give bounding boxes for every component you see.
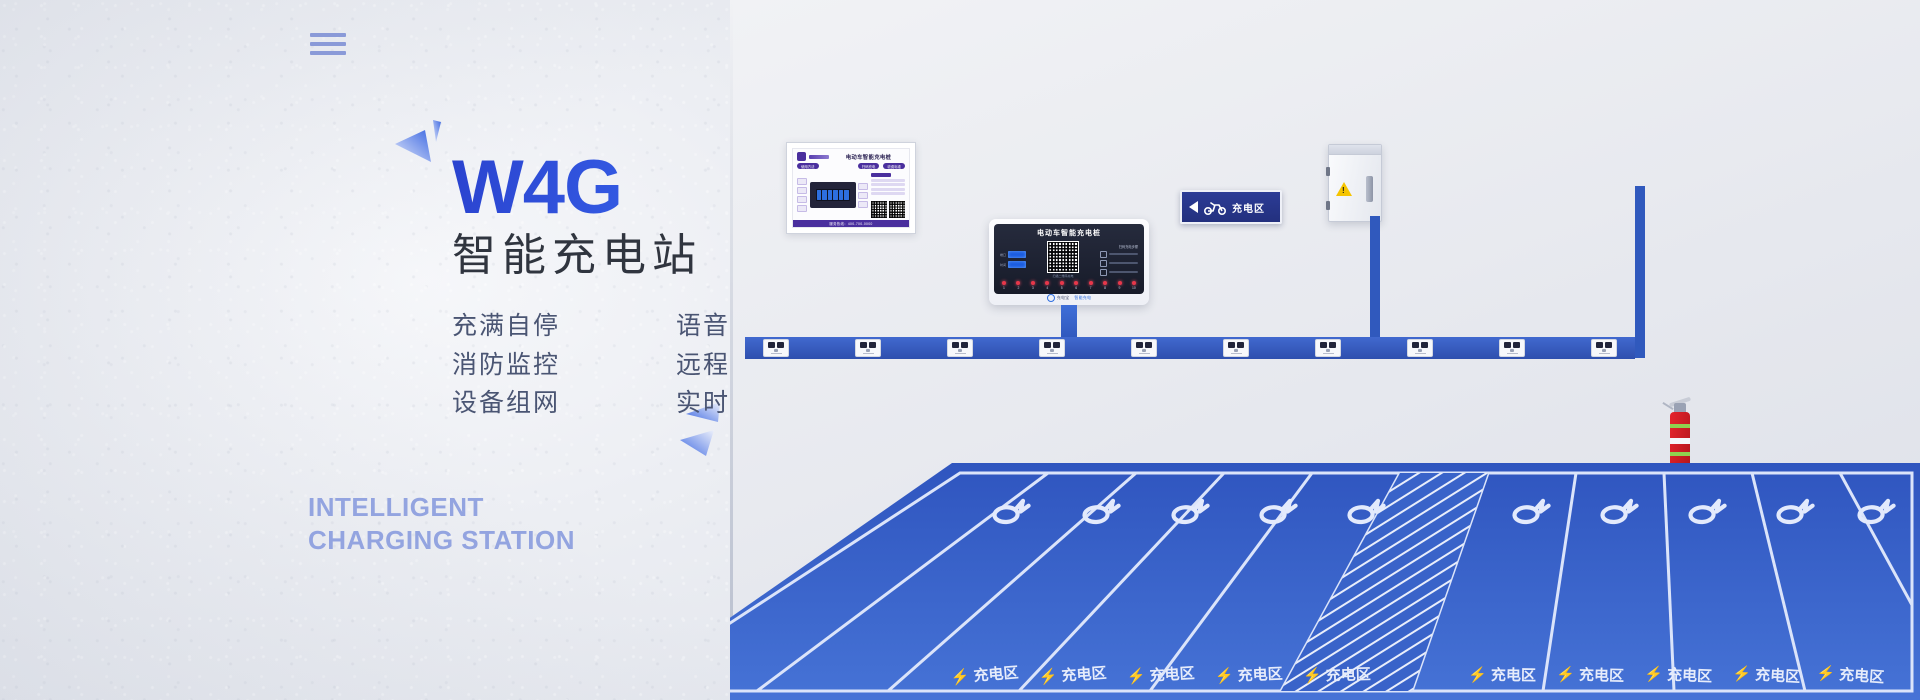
pile-qr-code[interactable] <box>1047 241 1079 273</box>
pile-port-number: 10 <box>1132 286 1136 290</box>
poster-footer: 服务热线：400-700-0000 <box>793 220 909 227</box>
sign-label: 充电区 <box>1232 200 1265 215</box>
pile-port-number: 1 <box>1003 286 1005 290</box>
power-socket-icon[interactable] <box>1131 339 1157 357</box>
poster-title: 电动车智能充电桩 <box>832 153 905 161</box>
pile-conduit <box>1370 216 1380 340</box>
cabinet-conduit <box>1635 186 1645 358</box>
feature-item: 充满自停 <box>452 309 648 344</box>
power-socket-icon[interactable] <box>1223 339 1249 357</box>
pile-port-number: 8 <box>1104 286 1106 290</box>
scooter-icon <box>1203 200 1227 215</box>
pile-led-display: 端口 时间 <box>1000 251 1026 268</box>
poster-tag-usage: 使用方法 <box>797 163 819 169</box>
feature-item: 设备组网 <box>452 386 648 421</box>
poster-logo-icon <box>797 152 806 161</box>
cabinet-handle[interactable] <box>1366 176 1373 202</box>
feature-item: 消防监控 <box>452 348 648 383</box>
pile-qr-caption: 扫描二维码充电 <box>1031 274 1095 278</box>
pile-led-label-port: 端口 <box>1000 253 1006 257</box>
pile-port-number: 5 <box>1061 286 1063 290</box>
poster-notice-tag <box>871 173 891 177</box>
high-voltage-warning-icon <box>1336 182 1352 196</box>
electrical-cabinet[interactable] <box>1328 144 1382 222</box>
poster-qr-alipay[interactable] <box>889 201 905 218</box>
poster-notice-block <box>871 172 905 218</box>
pile-port-number: 2 <box>1017 286 1019 290</box>
bay-label: ⚡ 充电区 <box>1556 665 1624 685</box>
power-socket-icon[interactable] <box>1407 339 1433 357</box>
bay-label: ⚡ 充电区 <box>1303 665 1371 685</box>
power-socket-icon[interactable] <box>1039 339 1065 357</box>
english-line-1: INTELLIGENT <box>308 491 575 524</box>
menu-bar <box>310 33 346 37</box>
parking-floor: ⚡ 充电区⚡ 充电区⚡ 充电区⚡ 充电区⚡ 充电区⚡ 充电区⚡ 充电区⚡ 充电区… <box>730 455 1920 700</box>
power-socket-icon[interactable] <box>947 339 973 357</box>
power-socket-icon[interactable] <box>1499 339 1525 357</box>
poster-brand-mark <box>809 155 829 159</box>
power-socket-icon[interactable] <box>1591 339 1617 357</box>
power-socket-icon[interactable] <box>763 339 789 357</box>
wall-outlet-rail <box>745 337 1635 359</box>
hamburger-menu-icon[interactable] <box>310 33 346 55</box>
pile-port-number: 7 <box>1090 286 1092 290</box>
pile-instructions-heading: 扫码充电步骤 <box>1100 244 1138 249</box>
bay-label: ⚡ 充电区 <box>1215 665 1284 686</box>
poster-tag-price: 收费标准 <box>883 163 905 169</box>
pile-logo-icon <box>1047 294 1055 302</box>
menu-bar <box>310 51 346 55</box>
pile-port-number: 4 <box>1046 286 1048 290</box>
decor-triangle-icon <box>395 120 455 180</box>
poster-tag-scan: 扫码充电 <box>858 163 880 169</box>
pile-brand-sub: 智能充电 <box>1074 295 1091 301</box>
charging-pile-device[interactable]: 电动车智能充电桩 端口 时间 扫描二维码充电 扫码充电步骤 <box>989 219 1149 305</box>
pile-branding: 充电宝 智能充电 <box>994 294 1144 302</box>
poster-steps-left <box>797 172 807 218</box>
pile-port-number: 9 <box>1119 286 1121 290</box>
pile-brand-name: 充电宝 <box>1057 295 1070 301</box>
poster-device-image <box>810 182 856 208</box>
power-socket-icon[interactable] <box>1315 339 1341 357</box>
pile-port-indicators[interactable]: 1 2 3 4 5 6 7 8 9 10 <box>1000 281 1138 290</box>
power-socket-icon[interactable] <box>855 339 881 357</box>
hero-banner: W4G 智能充电站 充满自停 语音提示 消防监控 远程升级 设备组网 实时到账 … <box>0 0 1920 700</box>
pile-title: 电动车智能充电桩 <box>1000 228 1138 238</box>
english-line-2: CHARGING STATION <box>308 524 575 557</box>
menu-bar <box>310 42 346 46</box>
poster-steps-right <box>859 172 869 218</box>
charging-station-illustration: 电动车智能充电桩 使用方法 扫码充电 收费标准 <box>730 0 1920 700</box>
cabinet-top <box>1329 145 1381 155</box>
pile-instructions: 扫码充电步骤 <box>1100 244 1138 276</box>
bay-label: ⚡ 充电区 <box>1468 666 1536 685</box>
left-arrow-icon <box>1189 201 1198 213</box>
pile-support-post <box>1061 305 1077 341</box>
english-subtitle: INTELLIGENT CHARGING STATION <box>308 491 575 558</box>
pile-led-label-time: 时间 <box>1000 263 1006 267</box>
poster-qr-wechat[interactable] <box>871 201 887 218</box>
bay-label: ⚡ 充电区 <box>1126 664 1195 686</box>
direction-sign[interactable]: 充电区 <box>1180 190 1282 224</box>
bay-label: ⚡ 充电区 <box>1644 665 1713 686</box>
pile-port-number: 6 <box>1075 286 1077 290</box>
wall-poster[interactable]: 电动车智能充电桩 使用方法 扫码充电 收费标准 <box>786 142 916 234</box>
pile-port-number: 3 <box>1032 286 1034 290</box>
